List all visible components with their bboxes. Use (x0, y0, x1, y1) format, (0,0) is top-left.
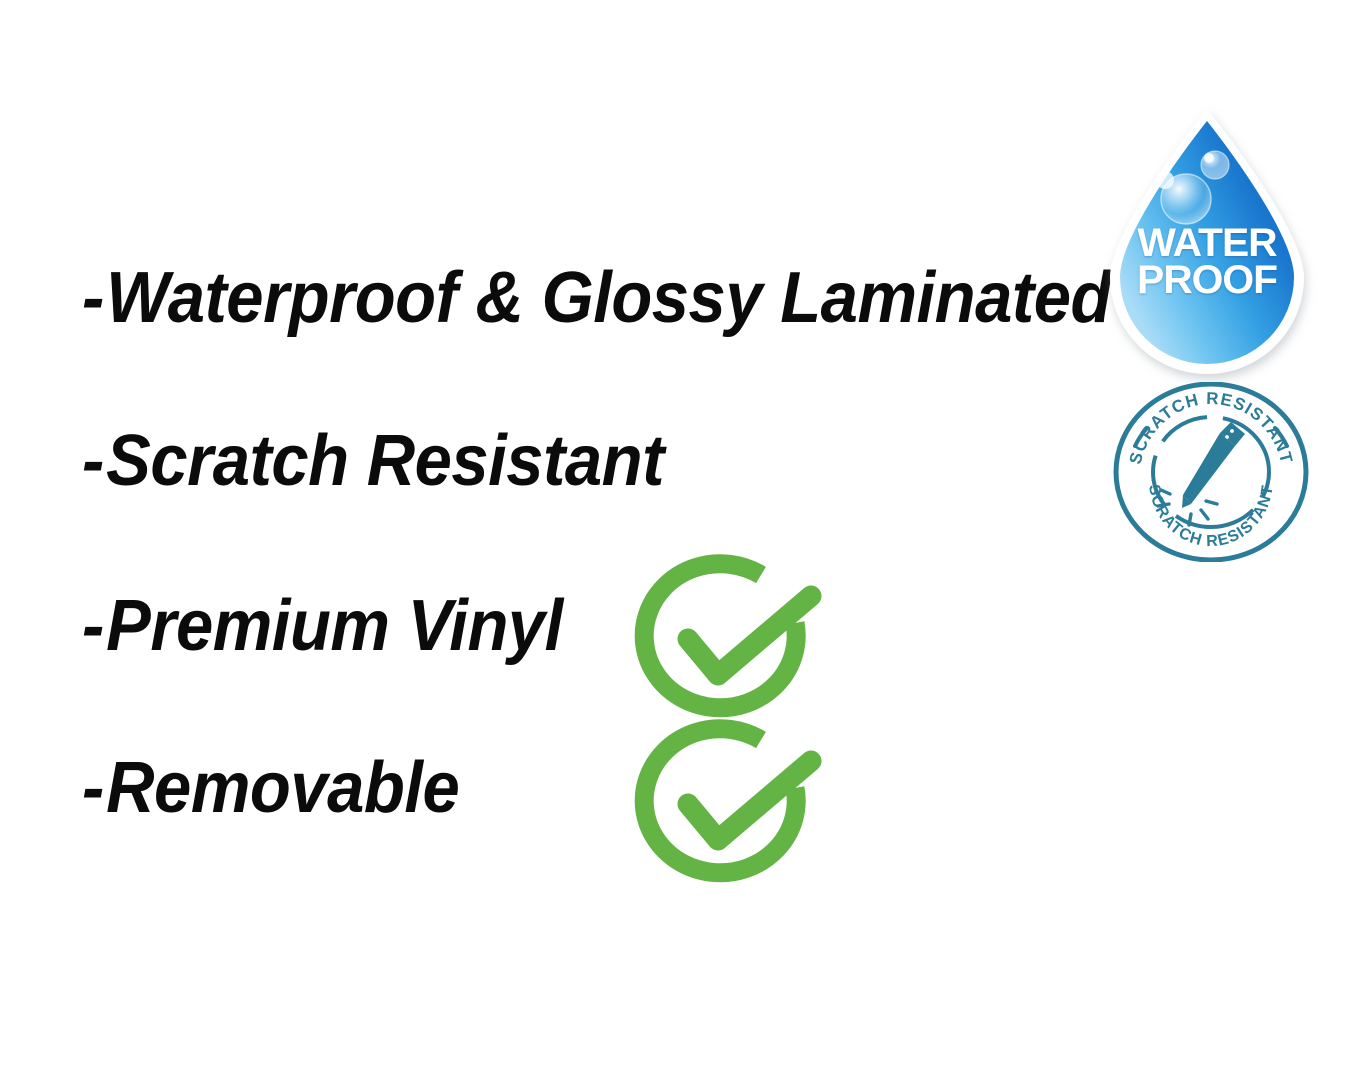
feature-item-removable: -Removable (82, 752, 459, 824)
feature-item-premium-vinyl: -Premium Vinyl (82, 590, 563, 662)
feature-label: Premium Vinyl (106, 586, 563, 666)
feature-bullet-dash: - (82, 258, 106, 338)
feature-item-scratch-resistant: -Scratch Resistant (82, 425, 664, 497)
feature-bullet-dash: - (82, 748, 106, 828)
feature-bullet-dash: - (82, 586, 106, 666)
feature-label: Removable (106, 748, 459, 828)
knife-icon (1182, 422, 1245, 508)
feature-item-waterproof: -Waterproof & Glossy Laminated (82, 262, 1111, 334)
feature-graphic-canvas: -Waterproof & Glossy Laminated -Scratch … (0, 0, 1359, 1080)
water-bubble-large-highlight (1156, 171, 1174, 189)
feature-label: Scratch Resistant (106, 421, 664, 501)
check-circle-premium-vinyl (635, 553, 831, 733)
water-bubble-small-highlight (1204, 153, 1214, 163)
feature-bullet-dash: - (82, 421, 106, 501)
scratch-resistant-badge: SCRATCH RESISTANT SCRATCH RESISTANT (1113, 382, 1309, 562)
feature-list: -Waterproof & Glossy Laminated -Scratch … (0, 0, 1100, 1080)
feature-label: Waterproof & Glossy Laminated (106, 258, 1111, 338)
check-circle-removable (635, 718, 831, 898)
waterproof-badge: WATER PROOF (1108, 107, 1306, 365)
